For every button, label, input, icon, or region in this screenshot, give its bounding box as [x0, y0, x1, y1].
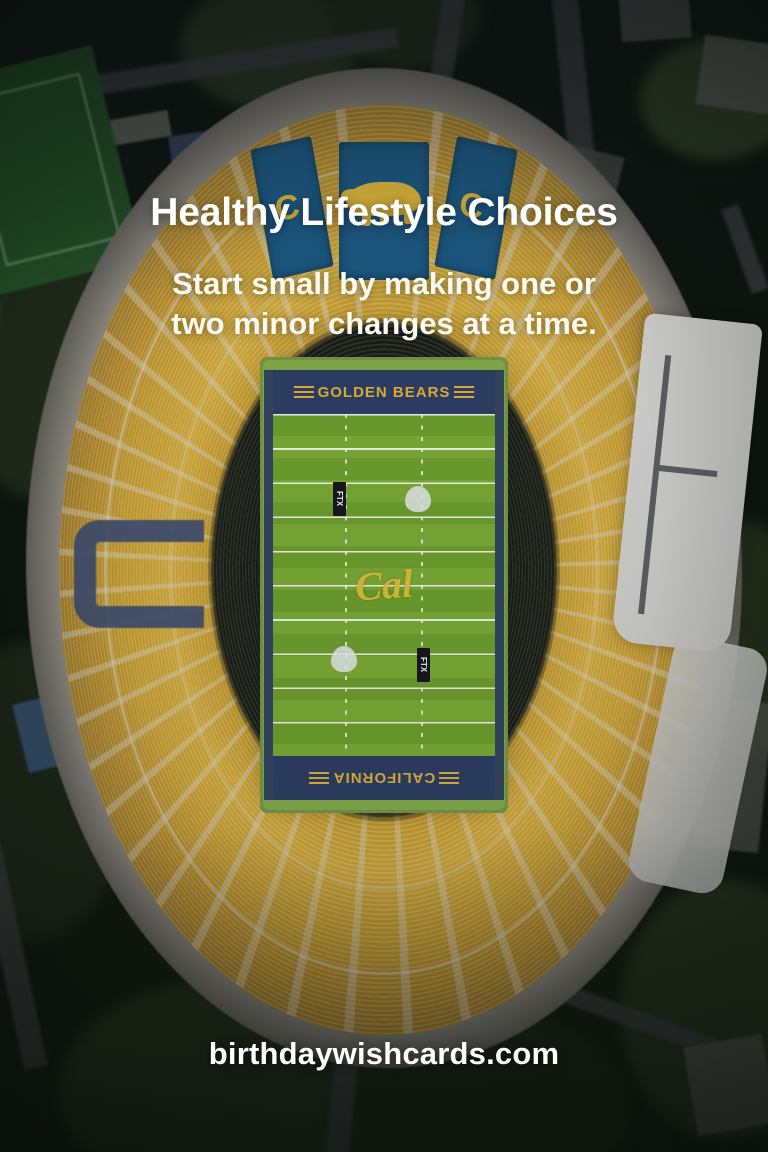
page-title: Healthy Lifestyle Choices: [0, 191, 768, 235]
subtitle-line-1: Start small by making one or: [0, 264, 768, 304]
text-overlay: Healthy Lifestyle Choices Start small by…: [0, 0, 768, 1152]
footer-watermark: birthdaywishcards.com: [0, 1036, 768, 1072]
subtitle-line-2: two minor changes at a time.: [0, 304, 768, 344]
image-card: C C GOLDEN BEARS CALIFORNIA: [0, 0, 768, 1152]
subtitle: Start small by making one or two minor c…: [0, 264, 768, 345]
